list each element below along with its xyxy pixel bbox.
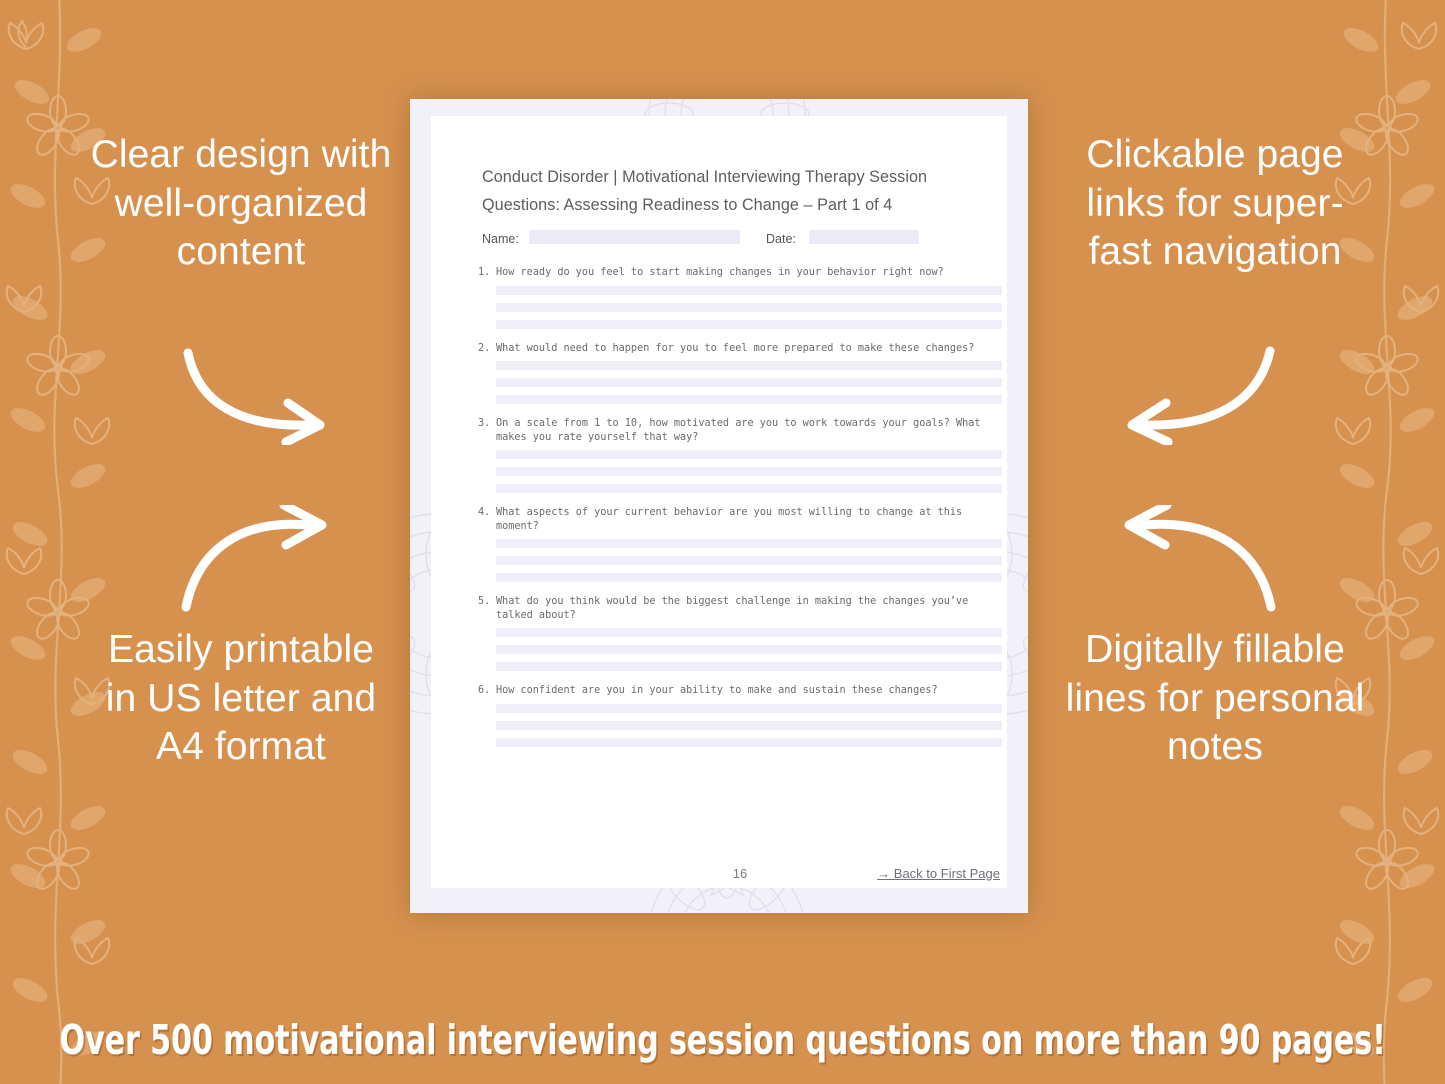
question-text-row: 6.How confident are you in your ability …	[478, 684, 1002, 698]
answer-lines	[478, 704, 1002, 747]
question-number: 6.	[478, 684, 496, 698]
promo-text-bottom-right: Digitally fillable lines for personal no…	[1055, 626, 1375, 772]
question-block: 4.What aspects of your current behavior …	[478, 506, 1002, 582]
answer-line[interactable]	[496, 395, 1002, 404]
answer-line[interactable]	[496, 467, 1002, 476]
question-number: 3.	[478, 417, 496, 444]
answer-line[interactable]	[496, 704, 1002, 713]
answer-line[interactable]	[496, 539, 1002, 548]
answer-line[interactable]	[496, 286, 1002, 295]
answer-line[interactable]	[496, 628, 1002, 637]
question-number: 4.	[478, 506, 496, 533]
document-footer: 16 → Back to First Page	[452, 866, 1028, 896]
date-input[interactable]	[809, 230, 919, 244]
question-block: 2.What would need to happen for you to f…	[478, 342, 1002, 405]
curved-arrow-left-icon	[1100, 345, 1280, 445]
question-text-row: 5.What do you think would be the biggest…	[478, 595, 1002, 622]
question-text: What do you think would be the biggest c…	[496, 595, 1002, 622]
question-number: 5.	[478, 595, 496, 622]
answer-line[interactable]	[496, 361, 1002, 370]
answer-line[interactable]	[496, 721, 1002, 730]
answer-lines	[478, 286, 1002, 329]
question-block: 6.How confident are you in your ability …	[478, 684, 1002, 747]
answer-line[interactable]	[496, 378, 1002, 387]
question-text: What would need to happen for you to fee…	[496, 342, 1002, 356]
question-number: 2.	[478, 342, 496, 356]
promo-text-top-right: Clickable page links for super-fast navi…	[1055, 131, 1375, 277]
answer-lines	[478, 539, 1002, 582]
name-label: Name:	[482, 232, 519, 246]
question-text-row: 1.How ready do you feel to start making …	[478, 266, 1002, 280]
promo-text-top-left: Clear design with well-organized content	[88, 131, 394, 277]
answer-line[interactable]	[496, 573, 1002, 582]
answer-line[interactable]	[496, 662, 1002, 671]
answer-lines	[478, 450, 1002, 493]
question-text: How ready do you feel to start making ch…	[496, 266, 1002, 280]
answer-line[interactable]	[496, 450, 1002, 459]
question-text: How confident are you in your ability to…	[496, 684, 1002, 698]
page-title: Conduct Disorder | Motivational Intervie…	[482, 164, 991, 219]
answer-line[interactable]	[496, 556, 1002, 565]
bottom-banner: Over 500 motivational interviewing sessi…	[0, 996, 1445, 1084]
curved-arrow-right-icon	[180, 345, 350, 445]
question-block: 3.On a scale from 1 to 10, how motivated…	[478, 417, 1002, 493]
question-text-row: 3.On a scale from 1 to 10, how motivated…	[478, 417, 1002, 444]
answer-line[interactable]	[496, 303, 1002, 312]
answer-line[interactable]	[496, 645, 1002, 654]
questions-list: 1.How ready do you feel to start making …	[478, 266, 1002, 760]
question-number: 1.	[478, 266, 496, 280]
curved-arrow-right-icon-2	[180, 505, 350, 615]
answer-lines	[478, 361, 1002, 404]
answer-line[interactable]	[496, 738, 1002, 747]
bottom-banner-text: Over 500 motivational interviewing sessi…	[59, 1016, 1385, 1064]
document-card[interactable]: Conduct Disorder | Motivational Intervie…	[410, 99, 1028, 913]
name-input[interactable]	[529, 230, 740, 244]
back-to-first-page-link[interactable]: → Back to First Page	[877, 866, 1000, 881]
question-block: 1.How ready do you feel to start making …	[478, 266, 1002, 329]
question-text-row: 4.What aspects of your current behavior …	[478, 506, 1002, 533]
curved-arrow-left-icon-2	[1095, 505, 1280, 615]
question-text: On a scale from 1 to 10, how motivated a…	[496, 417, 1002, 444]
question-text: What aspects of your current behavior ar…	[496, 506, 1002, 533]
name-date-row: Name: Date:	[482, 230, 1002, 248]
answer-line[interactable]	[496, 484, 1002, 493]
question-block: 5.What do you think would be the biggest…	[478, 595, 1002, 671]
answer-line[interactable]	[496, 320, 1002, 329]
answer-lines	[478, 628, 1002, 671]
promo-text-bottom-left: Easily printable in US letter and A4 for…	[88, 626, 394, 772]
date-label: Date:	[766, 232, 796, 246]
document-page: Conduct Disorder | Motivational Intervie…	[431, 116, 1007, 888]
question-text-row: 2.What would need to happen for you to f…	[478, 342, 1002, 356]
